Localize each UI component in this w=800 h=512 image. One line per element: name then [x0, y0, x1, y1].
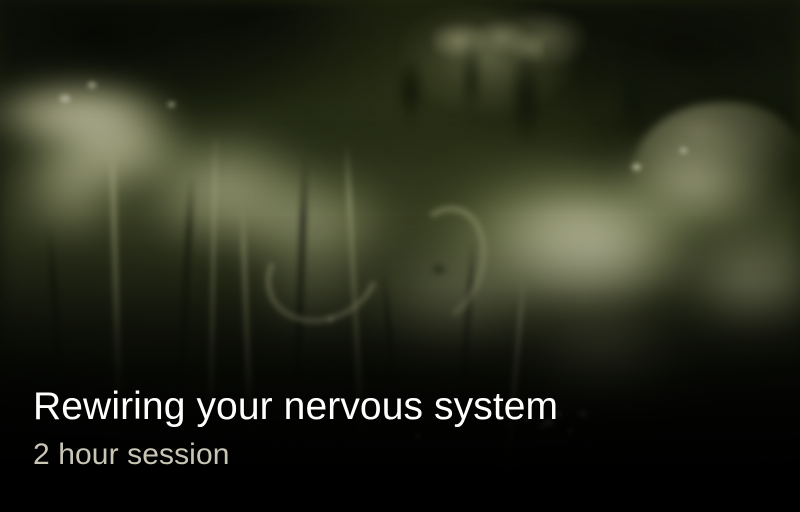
session-title: Rewiring your nervous system — [33, 385, 558, 429]
seed-head-node — [428, 261, 450, 278]
flower-speck — [568, 430, 572, 433]
grass-stem — [108, 123, 122, 410]
arching-stalk — [249, 204, 397, 342]
caption-block: Rewiring your nervous system 2 hour sess… — [33, 385, 558, 472]
session-hero-card[interactable]: Rewiring your nervous system 2 hour sess… — [0, 0, 800, 512]
session-duration: 2 hour session — [33, 438, 558, 472]
